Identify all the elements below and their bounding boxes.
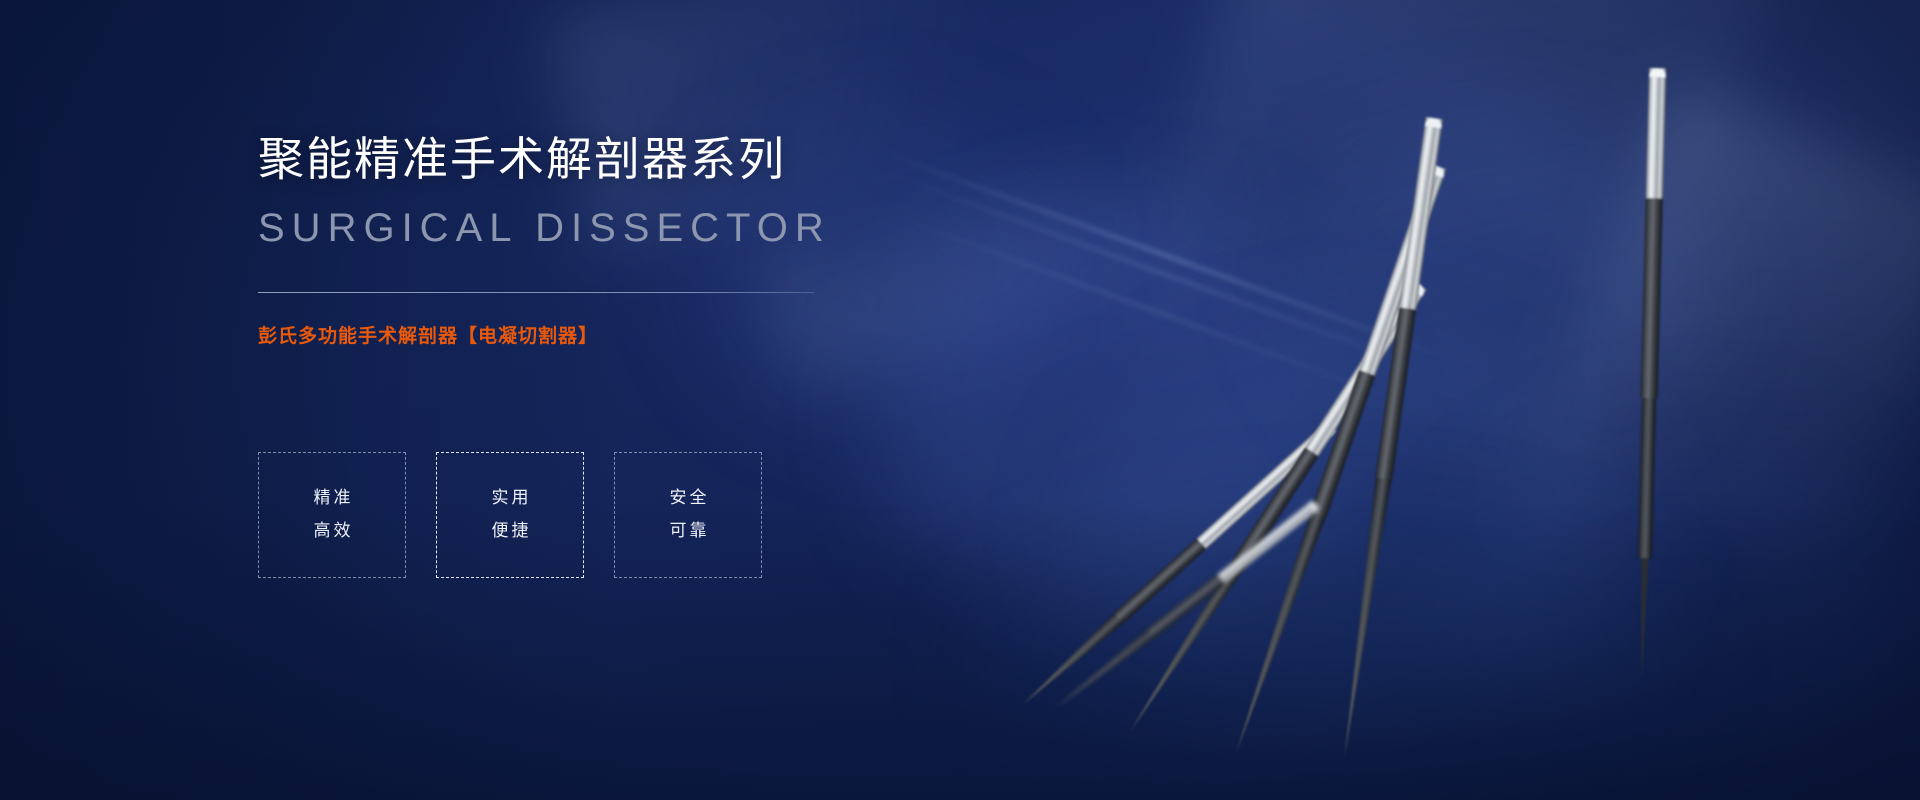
feature-badge-2[interactable]: 实用 便捷 bbox=[436, 452, 584, 578]
product-hero-banner: 聚能精准手术解剖器系列 SURGICAL DISSECTOR 彭氏多功能手术解剖… bbox=[0, 0, 1920, 800]
feature-badge-2-line2: 便捷 bbox=[489, 519, 532, 544]
instrument-1 bbox=[1019, 421, 1338, 710]
page-subtitle-en: SURGICAL DISSECTOR bbox=[258, 202, 898, 254]
instrument-5 bbox=[1633, 68, 1666, 680]
feature-badge-1-line1: 精准 bbox=[311, 486, 354, 511]
hero-copy-block: 聚能精准手术解剖器系列 SURGICAL DISSECTOR 彭氏多功能手术解剖… bbox=[258, 132, 898, 348]
feature-badge-list: 精准 高效 实用 便捷 安全 可靠 bbox=[258, 452, 762, 578]
divider-rule bbox=[258, 292, 814, 293]
surgical-dissector-instruments bbox=[0, 0, 1920, 800]
feature-badge-3-line1: 安全 bbox=[667, 486, 710, 511]
feature-badge-2-line1: 实用 bbox=[489, 486, 532, 511]
feature-badge-1-line2: 高效 bbox=[311, 519, 354, 544]
instrument-6-background bbox=[1052, 499, 1320, 712]
page-title: 聚能精准手术解剖器系列 bbox=[258, 132, 898, 186]
feature-badge-3-line2: 可靠 bbox=[667, 519, 710, 544]
product-name-label: 彭氏多功能手术解剖器【电凝切割器】 bbox=[258, 321, 898, 348]
feature-badge-3[interactable]: 安全 可靠 bbox=[614, 452, 762, 578]
feature-badge-1[interactable]: 精准 高效 bbox=[258, 452, 406, 578]
